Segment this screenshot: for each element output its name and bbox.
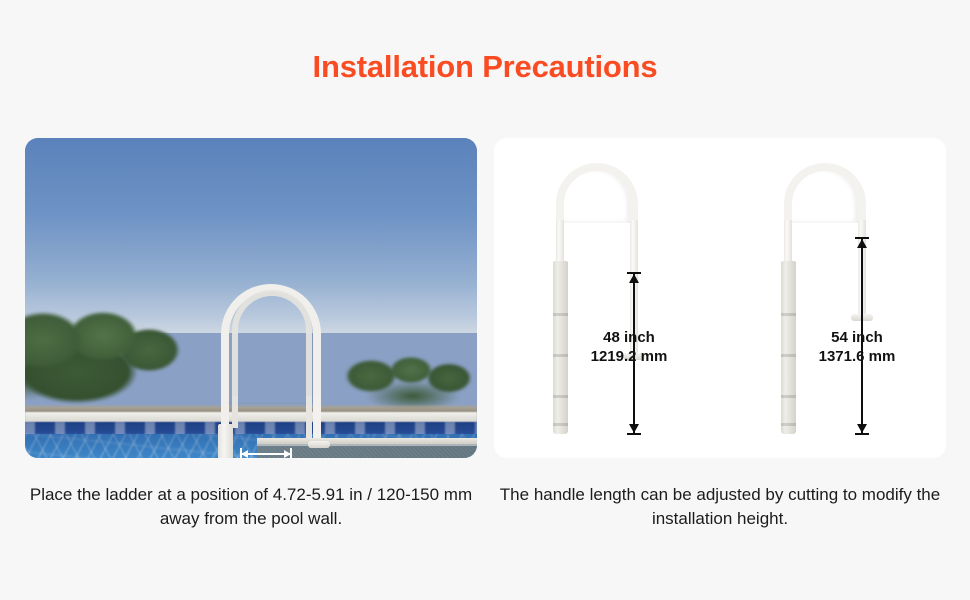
ladder-handle-arch-inner <box>232 290 312 404</box>
ladder-leg-left-inner <box>232 396 238 428</box>
ladder-48-inch-text: 48 inch <box>544 328 714 347</box>
ladder-48-mm-text: 1219.2 mm <box>544 347 714 366</box>
pool-photo: 120-150 mm <box>25 138 477 458</box>
tree-cluster-left <box>25 306 199 411</box>
left-caption: Place the ladder at a position of 4.72-5… <box>25 483 477 531</box>
infographic-page: Installation Precautions <box>0 0 970 600</box>
ladder-sleeve <box>218 424 233 458</box>
ladder-54-mm-text: 1371.6 mm <box>772 347 942 366</box>
ladder-mount-flange <box>308 441 330 448</box>
tree-cluster-right <box>341 350 477 412</box>
right-diagram-panel: 48 inch 1219.2 mm <box>494 138 946 458</box>
ladder-48-arch <box>556 163 638 223</box>
ladder-54-inch-text: 54 inch <box>772 328 942 347</box>
page-title: Installation Precautions <box>0 50 970 84</box>
left-photo-panel: 120-150 mm <box>25 138 477 458</box>
right-caption: The handle length can be adjusted by cut… <box>494 483 946 531</box>
ladder-48-label: 48 inch 1219.2 mm <box>544 328 714 366</box>
ladder-54-arch <box>784 163 866 223</box>
ladder-leg-right-inner <box>306 396 312 444</box>
pool-coping <box>25 412 477 422</box>
pool-wall-highlight <box>257 444 477 446</box>
distance-arrow-icon <box>240 448 292 458</box>
ladder-54-label: 54 inch 1371.6 mm <box>772 328 942 366</box>
ladder-leg-left-outer <box>221 396 229 426</box>
